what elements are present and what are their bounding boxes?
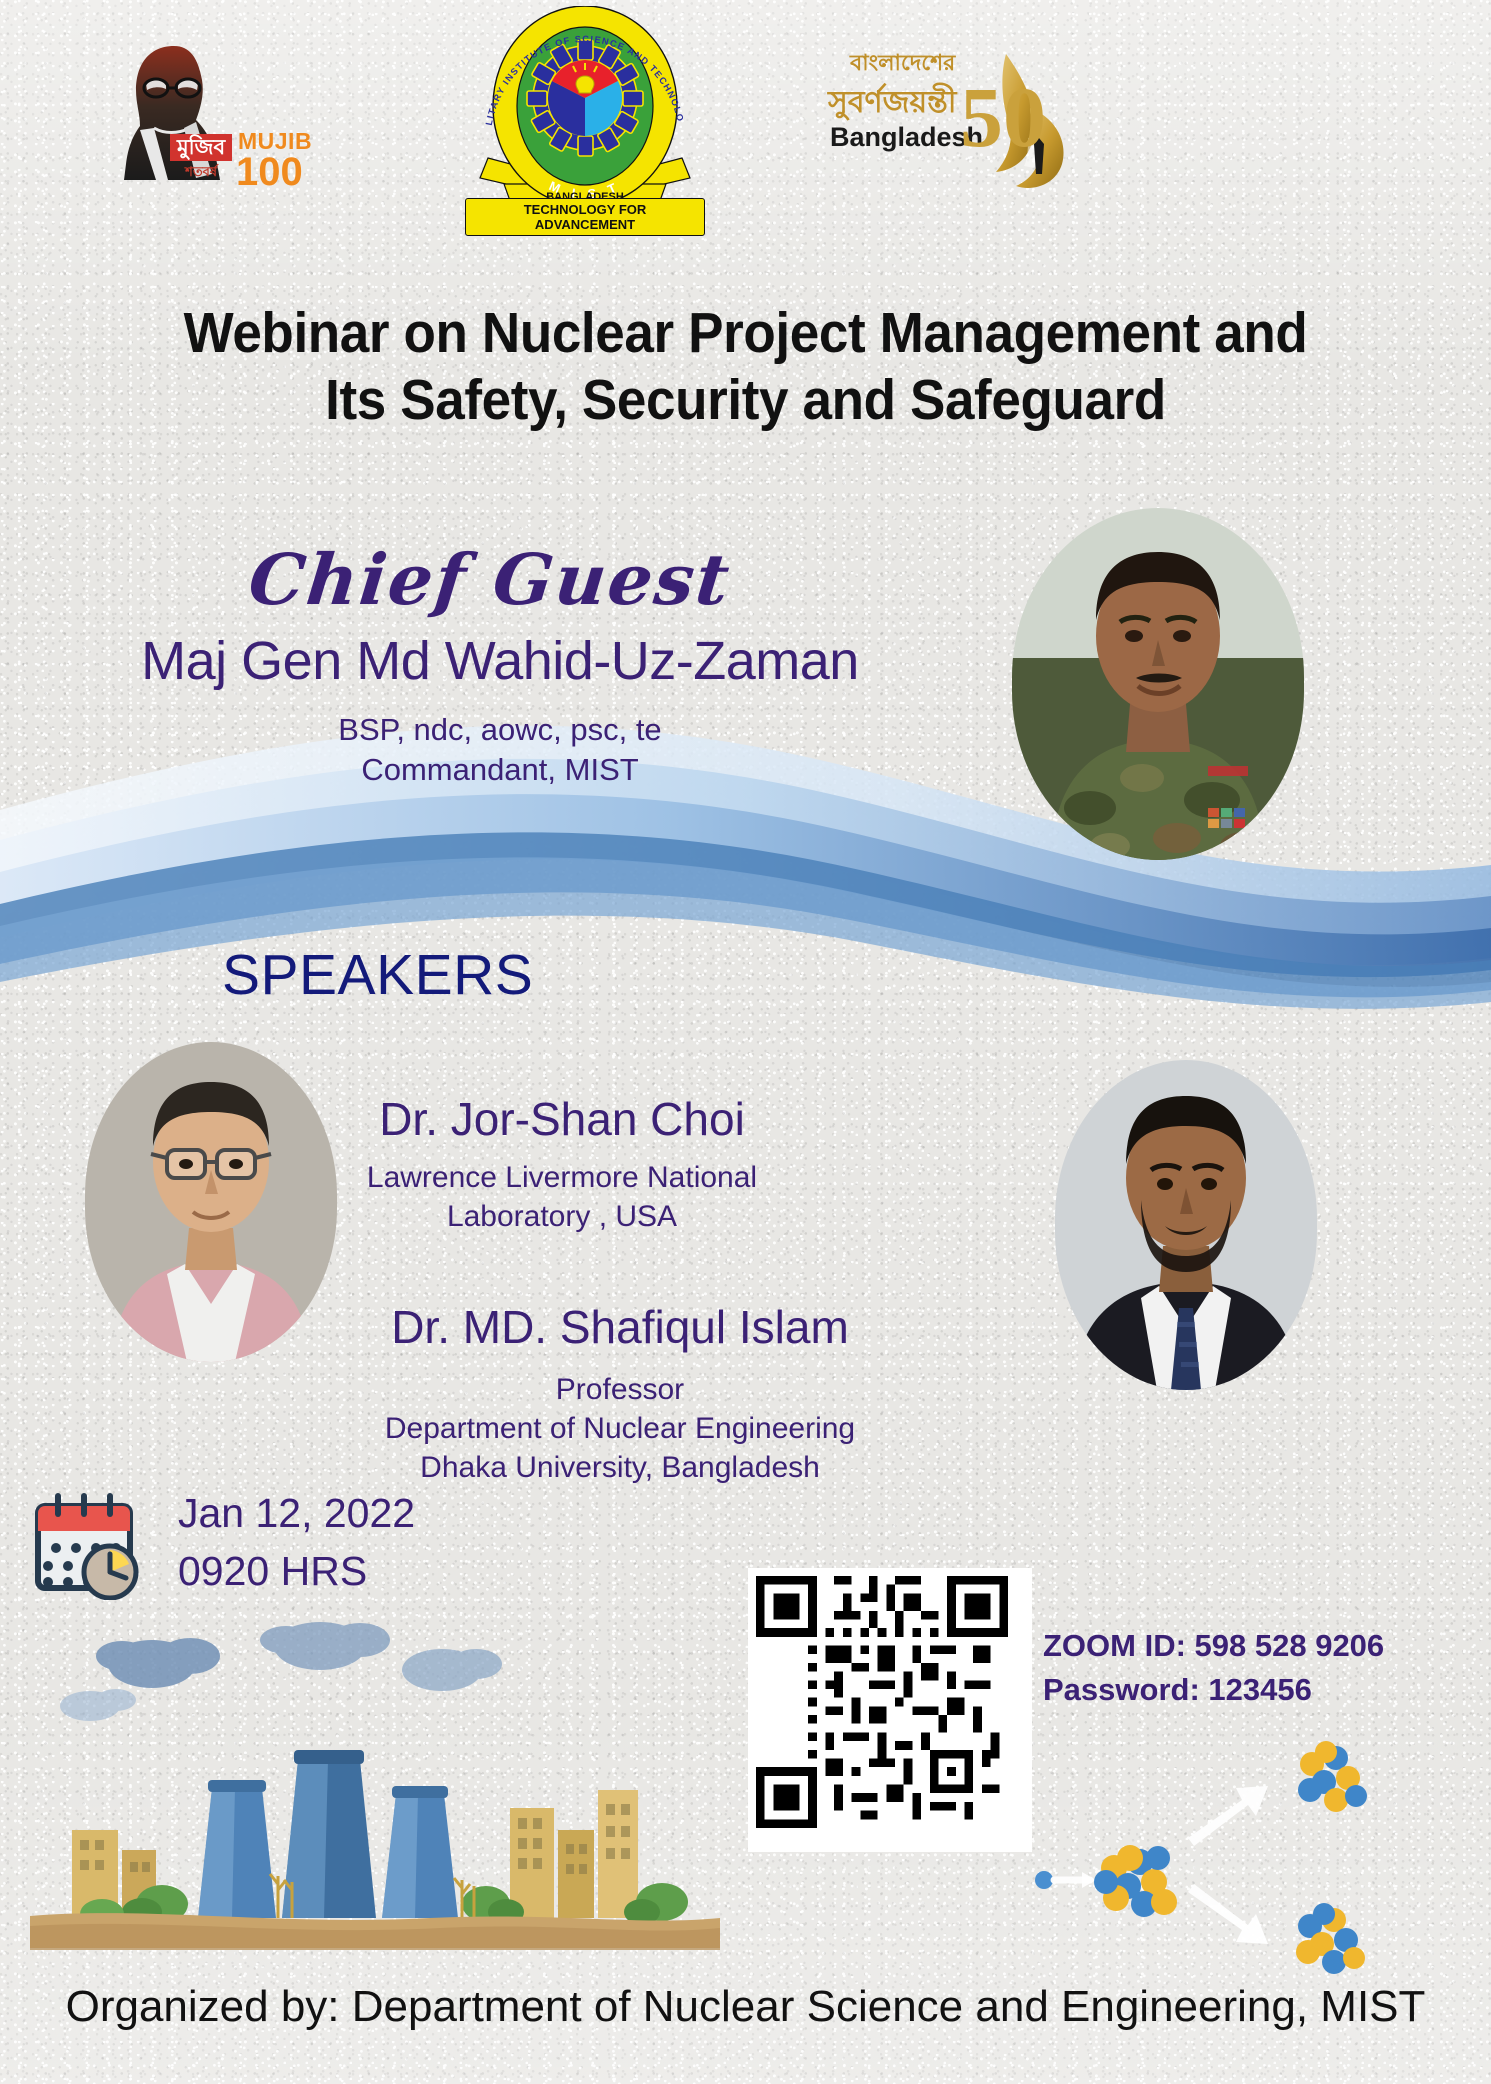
chief-guest-name: Maj Gen Md Wahid-Uz-Zaman [110, 630, 890, 692]
nuclear-fission-illustration [1030, 1728, 1470, 1998]
speaker-2-avatar [1055, 1060, 1317, 1390]
mist-crest-icon: MILITARY INSTITUTE OF SCIENCE AND TECHNO… [470, 6, 700, 216]
organizer-footer: Organized by: Department of Nuclear Scie… [0, 1982, 1491, 2032]
title-line-1: Webinar on Nuclear Project Management an… [52, 300, 1439, 367]
mujib-bangla-sub: শতবর্ষ [170, 163, 232, 184]
chief-guest-details: BSP, ndc, aowc, psc, te Commandant, MIST [110, 710, 890, 789]
chief-guest-designation: Commandant, MIST [110, 750, 890, 790]
speaker-1-name: Dr. Jor-Shan Choi [252, 1092, 872, 1146]
chief-guest-label: Chief Guest [176, 538, 805, 621]
event-time: 0920 HRS [178, 1548, 367, 1595]
mujib-number-text: 100 [236, 152, 303, 192]
speakers-heading: SPEAKERS [222, 942, 533, 1008]
speaker-2-name: Dr. MD. Shafiqul Islam [300, 1300, 940, 1354]
nuclear-power-plant-illustration [30, 1618, 720, 1963]
zoom-id-label: ZOOM ID: 598 528 9206 [1043, 1628, 1384, 1664]
speaker-2-affiliation: Professor Department of Nuclear Engineer… [300, 1370, 940, 1487]
speaker-1-affiliation: Lawrence Livermore National Laboratory ,… [252, 1158, 872, 1236]
parent-nucleus [1094, 1845, 1177, 1917]
logo-row: মুজিব শতবর্ষ MUJIB 100 [0, 0, 1491, 220]
page-title: Webinar on Nuclear Project Management an… [0, 300, 1491, 435]
qr-code[interactable] [748, 1568, 1032, 1852]
qr-code-image [756, 1576, 1008, 1828]
title-line-2: Its Safety, Security and Safeguard [52, 367, 1439, 434]
speaker-2-affiliation-line1: Professor [300, 1370, 940, 1409]
chief-guest-photo [1012, 508, 1304, 860]
daughter-nucleus-lower [1296, 1903, 1365, 1974]
speaker-2-affiliation-line3: Dhaka University, Bangladesh [300, 1448, 940, 1487]
mujib-bangla-block: মুজিব শতবর্ষ [170, 134, 232, 184]
event-date: Jan 12, 2022 [178, 1490, 415, 1537]
bd50-number-text: 50 [960, 74, 1046, 160]
bangladesh-50-logo: বাংলাদেশের সুবর্ণজয়ন্তী Bangladesh 50 [820, 46, 1080, 186]
speaker-1-affiliation-line1: Lawrence Livermore National [252, 1158, 872, 1197]
zoom-password-label: Password: 123456 [1043, 1672, 1312, 1708]
mujib-bangla-text: মুজিব [170, 134, 232, 161]
daughter-nucleus-upper [1298, 1741, 1367, 1812]
speaker-1-affiliation-line2: Laboratory , USA [252, 1197, 872, 1236]
mujib-100-logo: মুজিব শতবর্ষ MUJIB 100 [108, 42, 308, 202]
mist-crest-logo: MILITARY INSTITUTE OF SCIENCE AND TECHNO… [470, 6, 700, 216]
calendar-clock-icon [32, 1492, 144, 1600]
speaker-2-affiliation-line2: Department of Nuclear Engineering [300, 1409, 940, 1448]
chief-guest-qualifications: BSP, ndc, aowc, psc, te [110, 710, 890, 750]
mist-motto-text: TECHNOLOGY FOR ADVANCEMENT [465, 198, 705, 236]
chief-guest-avatar [1012, 508, 1304, 860]
speaker-2-photo [1055, 1060, 1317, 1390]
